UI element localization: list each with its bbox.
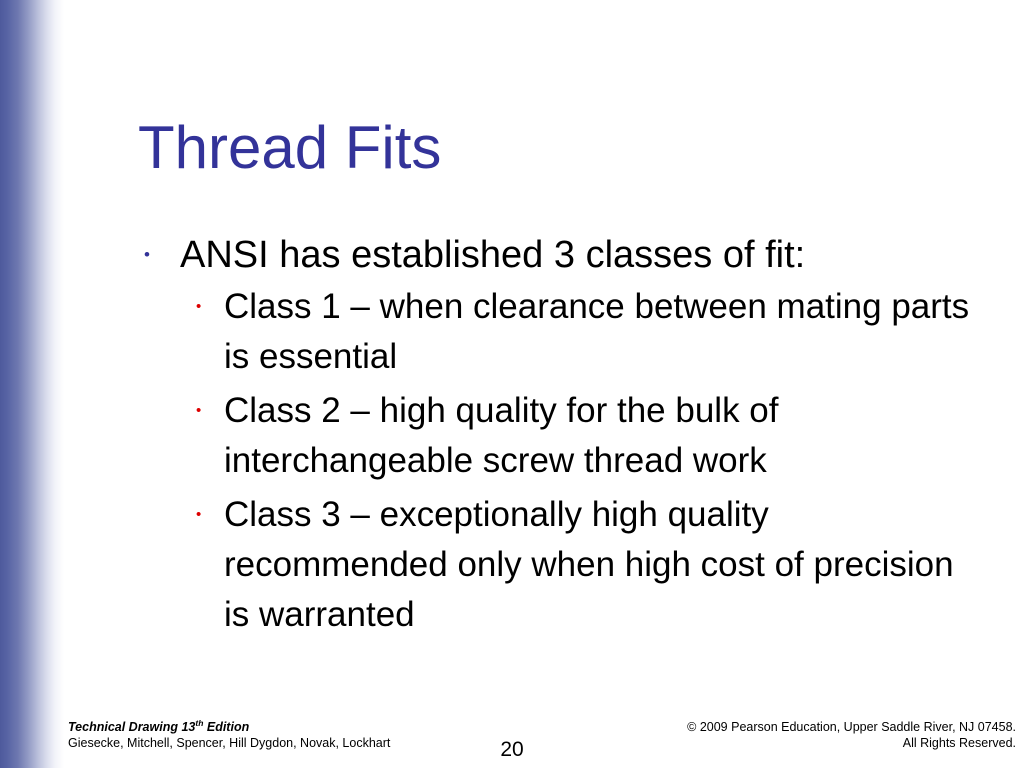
footer-book-title: Technical Drawing 13th Edition <box>68 719 390 735</box>
bullet-dot-icon: • <box>190 386 224 436</box>
bullet-sublist: • Class 1 – when clearance between matin… <box>190 282 984 640</box>
left-accent-gradient-band <box>0 0 64 768</box>
footer-edition-rest: Edition <box>203 720 249 734</box>
bullet-level2-label: Class 3 – exceptionally high quality rec… <box>224 490 982 640</box>
bullet-dot-icon: • <box>138 232 180 278</box>
bullet-level2-class-1: • Class 1 – when clearance between matin… <box>190 282 984 382</box>
bullet-dot-icon: • <box>190 490 224 540</box>
slide-page-number: 20 <box>0 738 1024 762</box>
bullet-level1: • ANSI has established 3 classes of fit: <box>138 232 984 278</box>
slide-canvas: Thread Fits • ANSI has established 3 cla… <box>0 0 1024 768</box>
bullet-level2-class-2: • Class 2 – high quality for the bulk of… <box>190 386 984 486</box>
bullet-level2-label: Class 1 – when clearance between mating … <box>224 282 982 382</box>
bullet-level1-label: ANSI has established 3 classes of fit: <box>180 232 984 278</box>
slide-body-content: • ANSI has established 3 classes of fit:… <box>138 232 984 644</box>
bullet-level2-label: Class 2 – high quality for the bulk of i… <box>224 386 982 486</box>
bullet-level2-class-3: • Class 3 – exceptionally high quality r… <box>190 490 984 640</box>
page-title: Thread Fits <box>138 114 958 182</box>
footer-copyright-line1: © 2009 Pearson Education, Upper Saddle R… <box>687 719 1016 735</box>
footer-book-title-text: Technical Drawing 13 <box>68 720 195 734</box>
bullet-dot-icon: • <box>190 282 224 332</box>
